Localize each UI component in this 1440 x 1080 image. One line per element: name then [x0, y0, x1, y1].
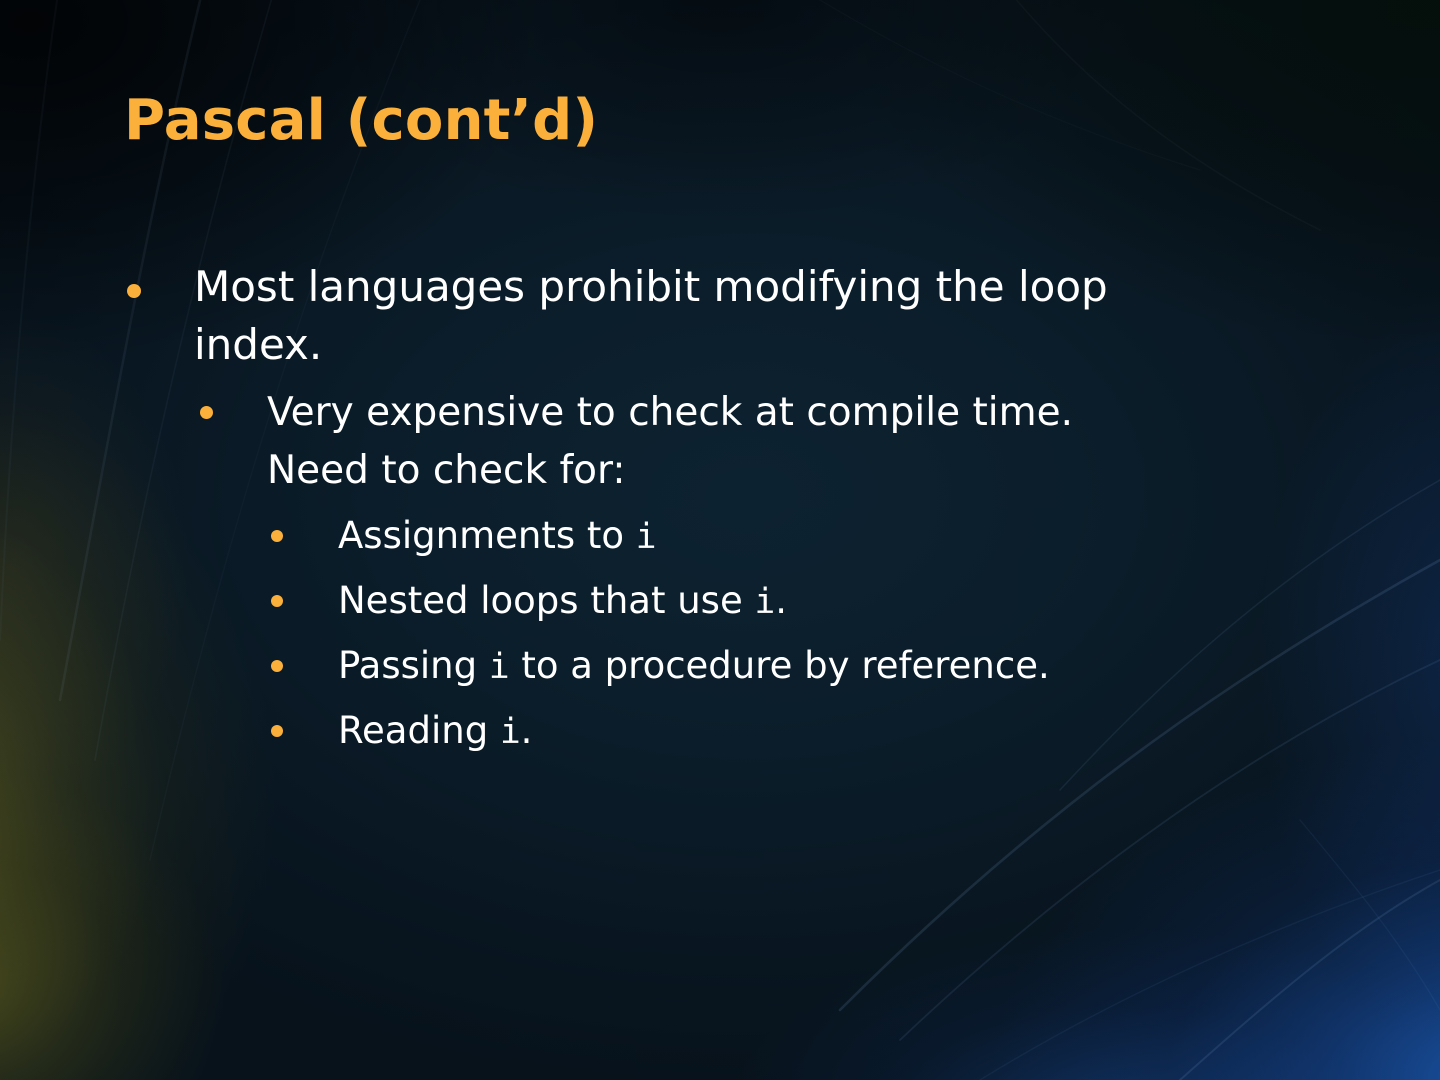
- inline-text: Reading: [338, 709, 500, 752]
- inline-text: Assignments to: [338, 514, 636, 557]
- list-item-label: Reading i.: [338, 703, 1060, 760]
- inline-text: to a procedure by reference.: [510, 644, 1050, 687]
- list-item: Assignments to i: [0, 508, 1440, 565]
- inline-text: .: [775, 579, 787, 622]
- list-item: Very expensive to check at compile time.…: [0, 384, 1440, 500]
- inline-code: i: [489, 647, 510, 687]
- list-item-label: Very expensive to check at compile time.…: [267, 384, 1140, 500]
- inline-code: i: [754, 582, 775, 622]
- inline-text: Passing: [338, 644, 489, 687]
- list-item-label: Nested loops that use i.: [338, 573, 1060, 630]
- inline-text: Most languages prohibit modifying the lo…: [194, 262, 1108, 369]
- list-item: Most languages prohibit modifying the lo…: [0, 258, 1440, 374]
- presentation-slide: Pascal (cont’d) Most languages prohibit …: [0, 0, 1440, 1080]
- list-item-label: Most languages prohibit modifying the lo…: [194, 258, 1140, 374]
- inline-text: Nested loops that use: [338, 579, 754, 622]
- bullet-list: Most languages prohibit modifying the lo…: [0, 258, 1440, 760]
- dot-bullet-icon: [271, 595, 283, 607]
- dot-bullet-icon: [271, 660, 283, 672]
- slide-content: Pascal (cont’d) Most languages prohibit …: [0, 0, 1440, 1080]
- page-title: Pascal (cont’d): [124, 88, 598, 154]
- list-item: Reading i.: [0, 703, 1440, 760]
- list-item-label: Passing i to a procedure by reference.: [338, 638, 1060, 695]
- list-item-label: Assignments to i: [338, 508, 1060, 565]
- inline-text: Very expensive to check at compile time.…: [267, 390, 1073, 493]
- dot-bullet-icon: [271, 725, 283, 737]
- inline-text: .: [521, 709, 533, 752]
- dot-bullet-icon: [271, 530, 283, 542]
- inline-code: i: [636, 517, 657, 557]
- dot-bullet-icon: [127, 284, 141, 298]
- dot-bullet-icon: [200, 406, 213, 419]
- list-item: Nested loops that use i.: [0, 573, 1440, 630]
- list-item: Passing i to a procedure by reference.: [0, 638, 1440, 695]
- inline-code: i: [500, 712, 521, 752]
